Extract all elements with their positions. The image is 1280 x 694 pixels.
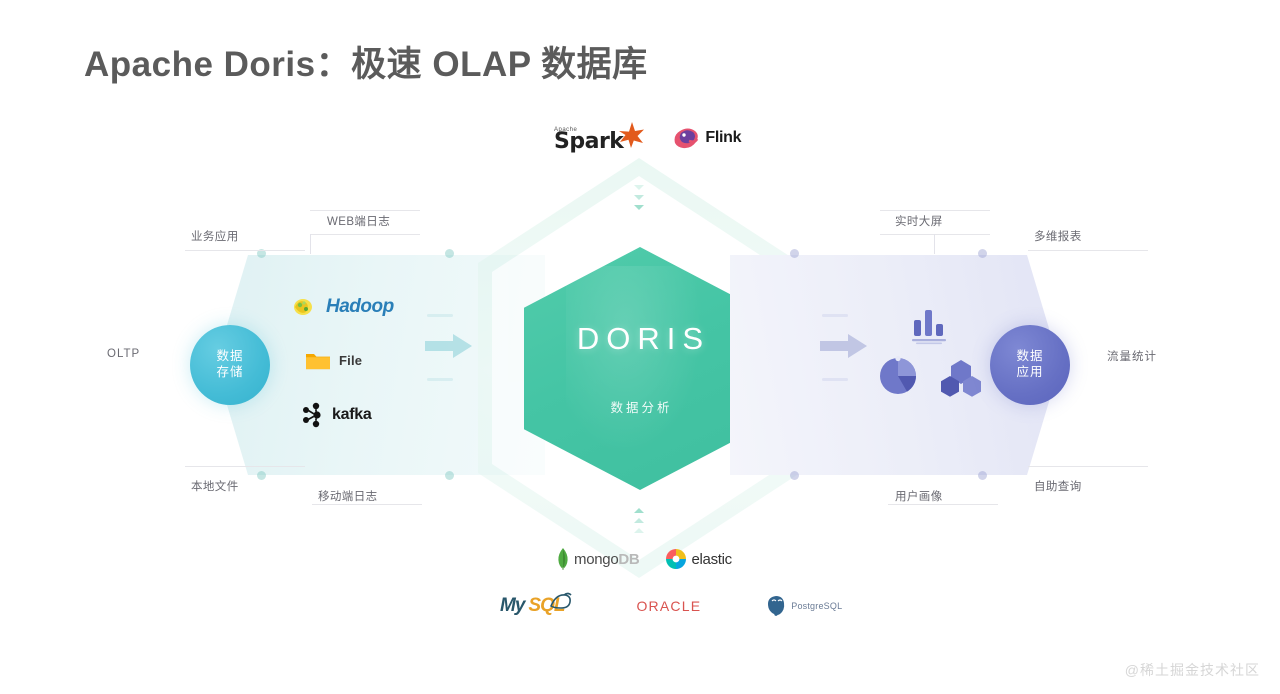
spark-star-icon — [619, 122, 645, 148]
label-multi-dim-report: 多维报表 — [1034, 228, 1082, 244]
postgresql-label: PostgreSQL — [791, 601, 842, 611]
label-guide-line — [934, 234, 935, 254]
source-label-hadoop: Hadoop — [326, 296, 394, 318]
label-guide-rule — [880, 234, 990, 235]
logo-mongodb[interactable]: mongoDB — [556, 548, 639, 570]
stream-engines-row: Apache Spark Flink — [554, 122, 741, 154]
label-self-service-query: 自助查询 — [1034, 478, 1082, 494]
source-item-kafka[interactable]: kafka — [300, 402, 371, 428]
data-application-circle[interactable]: 数据 应用 — [990, 325, 1070, 405]
logo-spark[interactable]: Apache Spark — [554, 122, 645, 154]
label-traffic-stats: 流量统计 — [1107, 348, 1157, 364]
top-chevron-stack — [634, 185, 644, 210]
panel-corner-dot — [790, 249, 799, 258]
app-circle-line1: 数据 — [1016, 349, 1043, 365]
source-item-file[interactable]: File — [305, 350, 362, 371]
label-local-file: 本地文件 — [191, 478, 239, 494]
doris-wordmark: DORIS — [570, 321, 710, 357]
label-web-log: WEB端日志 — [327, 213, 390, 229]
data-storage-circle[interactable]: 数据 存储 — [190, 325, 270, 405]
label-guide-line — [310, 234, 311, 254]
panel-corner-dot — [445, 471, 454, 480]
mongodb-leaf-icon — [556, 548, 570, 570]
flink-squirrel-icon — [671, 125, 701, 151]
chevron-down-icon — [634, 205, 644, 210]
app-circle-line2: 应用 — [1016, 365, 1043, 381]
label-guide-rule — [310, 234, 420, 235]
postgresql-elephant-icon — [765, 595, 787, 617]
chevron-up-icon — [634, 518, 644, 523]
label-guide-rule — [880, 210, 990, 211]
label-guide-rule — [185, 250, 305, 251]
flink-label: Flink — [705, 129, 741, 147]
label-guide-rule — [185, 466, 305, 467]
logo-flink[interactable]: Flink — [671, 125, 741, 151]
arrow-right-icon — [425, 332, 473, 360]
panel-corner-dot — [257, 471, 266, 480]
storage-circle-line2: 存储 — [216, 365, 243, 381]
analytics-bar-chart[interactable] — [908, 306, 952, 351]
logo-elastic[interactable]: elastic — [665, 548, 731, 570]
mongodb-label: mongoDB — [574, 551, 639, 568]
label-mobile-log: 移动端日志 — [318, 488, 378, 504]
label-guide-rule — [312, 504, 422, 505]
logo-mysql[interactable]: MySQL — [500, 592, 572, 620]
chevron-down-icon — [634, 195, 644, 200]
right-flow-arrow — [820, 332, 868, 365]
chevron-down-icon — [634, 185, 644, 190]
chevron-up-icon — [634, 528, 644, 533]
nosql-row: mongoDB elastic — [556, 548, 732, 570]
page-title: Apache Doris：极速 OLAP 数据库 — [84, 36, 648, 87]
logo-postgresql[interactable]: PostgreSQL — [765, 595, 842, 617]
label-oltp: OLTP — [107, 348, 140, 360]
rdbms-row: MySQL ORACLE PostgreSQL — [500, 592, 842, 620]
mysql-label-my: My — [500, 595, 524, 617]
label-realtime-dashboard: 实时大屏 — [895, 213, 943, 229]
label-guide-rule — [1028, 466, 1148, 467]
label-user-profile: 用户画像 — [895, 488, 943, 504]
label-guide-rule — [888, 504, 998, 505]
mysql-dolphin-icon — [550, 592, 572, 612]
spark-label: Spark — [554, 129, 623, 154]
architecture-diagram: Hadoop File kafka 数据 存储 — [0, 100, 1280, 660]
mongodb-suffix: DB — [618, 551, 639, 568]
logo-oracle[interactable]: ORACLE — [636, 598, 701, 614]
panel-corner-dot — [978, 249, 987, 258]
source-item-hadoop[interactable]: Hadoop — [292, 296, 394, 318]
arrow-right-icon — [820, 332, 868, 360]
oracle-label: ORACLE — [636, 598, 701, 614]
elastic-icon — [665, 548, 687, 570]
folder-icon — [305, 350, 331, 371]
doris-subtitle: 数据分析 — [607, 397, 672, 416]
panel-corner-dot — [978, 471, 987, 480]
panel-corner-dot — [790, 471, 799, 480]
bar-chart-icon — [908, 306, 952, 346]
source-label-file: File — [339, 353, 362, 368]
left-flow-arrow — [425, 332, 473, 365]
source-label-kafka: kafka — [332, 406, 371, 424]
analytics-cluster[interactable] — [938, 358, 984, 405]
pie-chart-icon — [874, 352, 922, 400]
kafka-icon — [300, 402, 324, 428]
bottom-chevron-stack — [634, 508, 644, 533]
panel-corner-dot — [445, 249, 454, 258]
watermark: @稀土掘金技术社区 — [1125, 660, 1260, 680]
chevron-up-icon — [634, 508, 644, 513]
storage-circle-line1: 数据 — [216, 349, 243, 365]
label-guide-rule — [1028, 250, 1148, 251]
hadoop-icon — [292, 297, 318, 317]
elastic-label: elastic — [691, 551, 731, 568]
label-guide-rule — [310, 210, 420, 211]
hexagon-cluster-icon — [938, 358, 984, 400]
analytics-pie-chart[interactable] — [874, 352, 922, 405]
label-business-app: 业务应用 — [191, 228, 239, 244]
